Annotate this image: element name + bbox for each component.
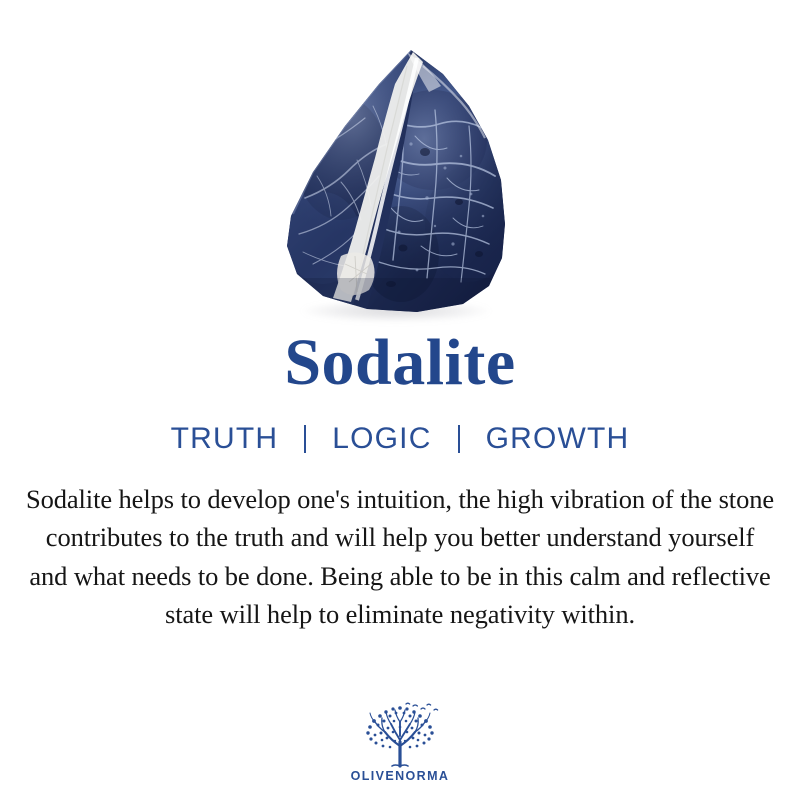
brand-name: OLIVENORMA: [351, 770, 450, 783]
page-title: Sodalite: [284, 330, 515, 396]
crystal-stage: [283, 48, 511, 316]
tree-of-life-icon: [357, 702, 443, 768]
product-info-card: Sodalite TRUTH LOGIC GROWTH Sodalite hel…: [0, 0, 800, 800]
product-description: Sodalite helps to develop one's intuitio…: [24, 480, 776, 634]
keyword-growth: GROWTH: [486, 424, 630, 454]
product-image-block: [0, 0, 800, 330]
brand-logo: OLIVENORMA: [0, 702, 800, 783]
keyword-list: TRUTH LOGIC GROWTH: [171, 424, 630, 454]
keyword-truth: TRUTH: [171, 424, 279, 454]
keyword-separator: [304, 425, 306, 453]
keyword-logic: LOGIC: [332, 424, 431, 454]
sodalite-crystal-point-icon: [283, 48, 511, 316]
keyword-separator: [458, 425, 460, 453]
